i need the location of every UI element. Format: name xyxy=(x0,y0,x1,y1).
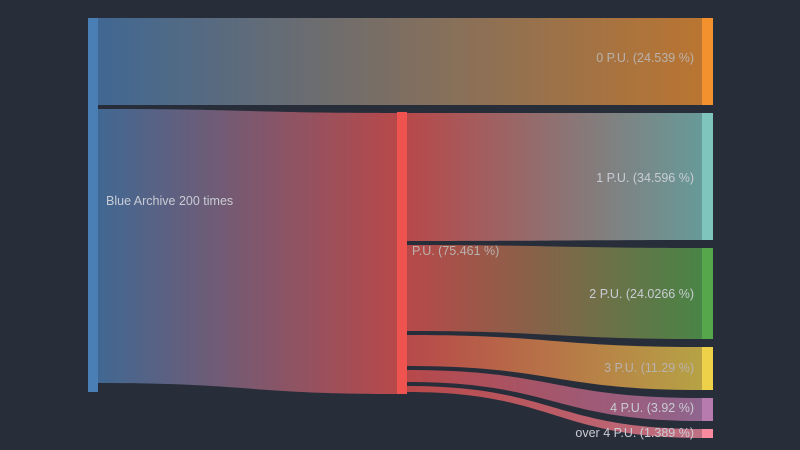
node-2pu[interactable] xyxy=(702,248,713,339)
node-label-source: Blue Archive 200 times xyxy=(106,194,233,208)
node-1pu[interactable] xyxy=(702,113,713,240)
node-label-0pu: 0 P.U. (24.539 %) xyxy=(596,51,694,65)
node-label-1pu: 1 P.U. (34.596 %) xyxy=(596,171,694,185)
node-label-over4pu: over 4 P.U. (1.389 %) xyxy=(575,426,694,440)
node-source[interactable] xyxy=(88,18,98,392)
node-label-3pu: 3 P.U. (11.29 %) xyxy=(604,361,694,375)
sankey-canvas: Blue Archive 200 times P.U. (75.461 %) 0… xyxy=(0,0,800,450)
node-3pu[interactable] xyxy=(702,347,713,390)
node-pu[interactable] xyxy=(397,112,407,394)
node-label-2pu: 2 P.U. (24.0266 %) xyxy=(589,287,694,301)
node-label-pu: P.U. (75.461 %) xyxy=(412,244,499,258)
node-over4pu[interactable] xyxy=(702,429,713,438)
sankey-diagram: Blue Archive 200 times P.U. (75.461 %) 0… xyxy=(0,0,800,450)
node-0pu[interactable] xyxy=(702,18,713,105)
node-label-4pu: 4 P.U. (3.92 %) xyxy=(610,401,694,415)
link-source-to-pu[interactable] xyxy=(98,109,397,394)
node-4pu[interactable] xyxy=(702,398,713,421)
